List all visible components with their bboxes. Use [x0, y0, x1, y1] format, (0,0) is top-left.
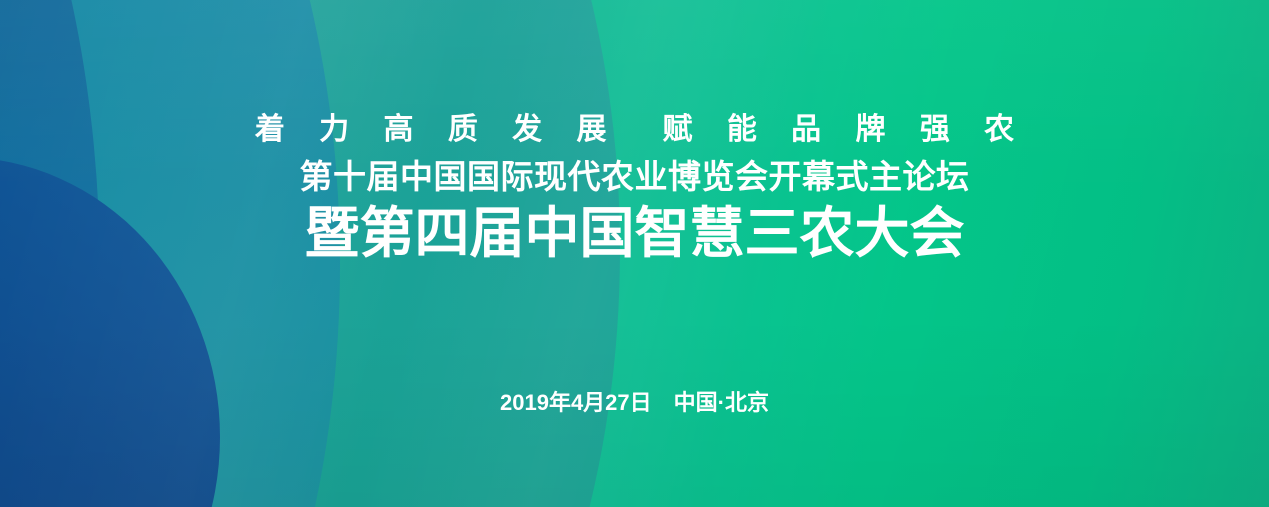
banner-tagline: 着 力 高 质 发 展 赋 能 品 牌 强 农	[0, 112, 1269, 148]
banner-date-location: 2019年4月27日 中国·北京	[0, 389, 1269, 417]
conference-banner: 着 力 高 质 发 展 赋 能 品 牌 强 农 第十届中国国际现代农业博览会开幕…	[0, 0, 1269, 507]
banner-title-main: 第十届中国国际现代农业博览会开幕式主论坛	[0, 157, 1269, 196]
banner-title-sub: 暨第四届中国智慧三农大会	[0, 202, 1269, 264]
banner-content: 着 力 高 质 发 展 赋 能 品 牌 强 农 第十届中国国际现代农业博览会开幕…	[0, 0, 1269, 507]
headline-block: 着 力 高 质 发 展 赋 能 品 牌 强 农 第十届中国国际现代农业博览会开幕…	[0, 112, 1269, 264]
